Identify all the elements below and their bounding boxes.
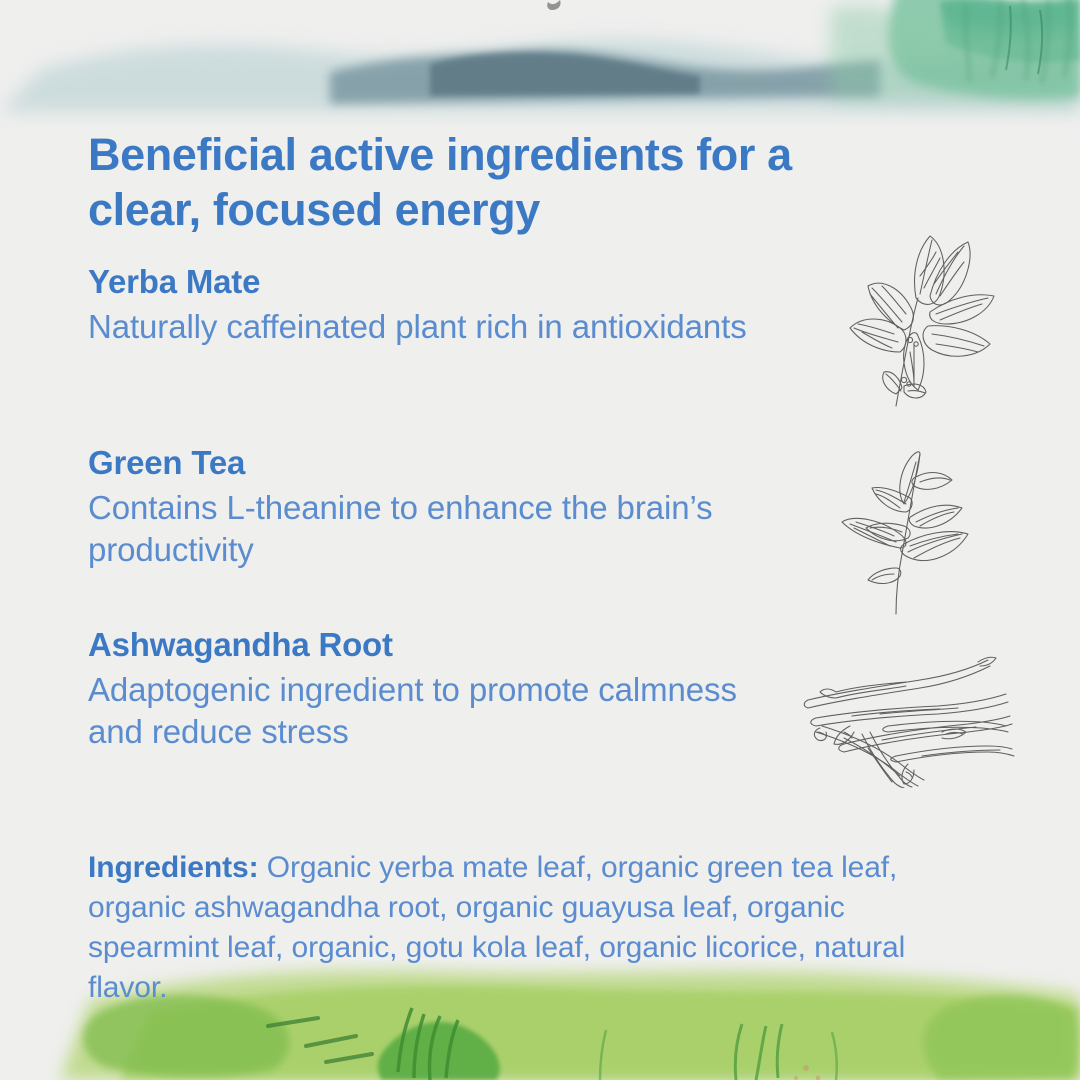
yerba-mate-branch-icon bbox=[826, 224, 1016, 414]
ingredient-description: Contains L-theanine to enhance the brain… bbox=[88, 487, 778, 571]
green-tea-sprig-icon bbox=[834, 442, 1010, 618]
ingredient-description: Adaptogenic ingredient to promote calmne… bbox=[88, 669, 778, 753]
ashwagandha-roots-icon bbox=[792, 652, 1020, 788]
ingredient-name: Yerba Mate bbox=[88, 262, 778, 302]
ingredient-item-ashwagandha-root: Ashwagandha Root Adaptogenic ingredient … bbox=[88, 625, 778, 753]
ingredient-name: Ashwagandha Root bbox=[88, 625, 778, 665]
ingredient-item-green-tea: Green Tea Contains L-theanine to enhance… bbox=[88, 443, 778, 571]
ingredient-name: Green Tea bbox=[88, 443, 778, 483]
ingredients-label: Ingredients: bbox=[88, 851, 258, 884]
product-ingredients-infographic: Beneficial active ingredients for a clea… bbox=[0, 0, 1080, 1080]
ingredient-item-yerba-mate: Yerba Mate Naturally caffeinated plant r… bbox=[88, 262, 778, 348]
ingredients-list: Ingredients: Organic yerba mate leaf, or… bbox=[88, 848, 950, 1008]
page-title: Beneficial active ingredients for a clea… bbox=[88, 128, 888, 238]
ingredient-description: Naturally caffeinated plant rich in anti… bbox=[88, 306, 778, 348]
